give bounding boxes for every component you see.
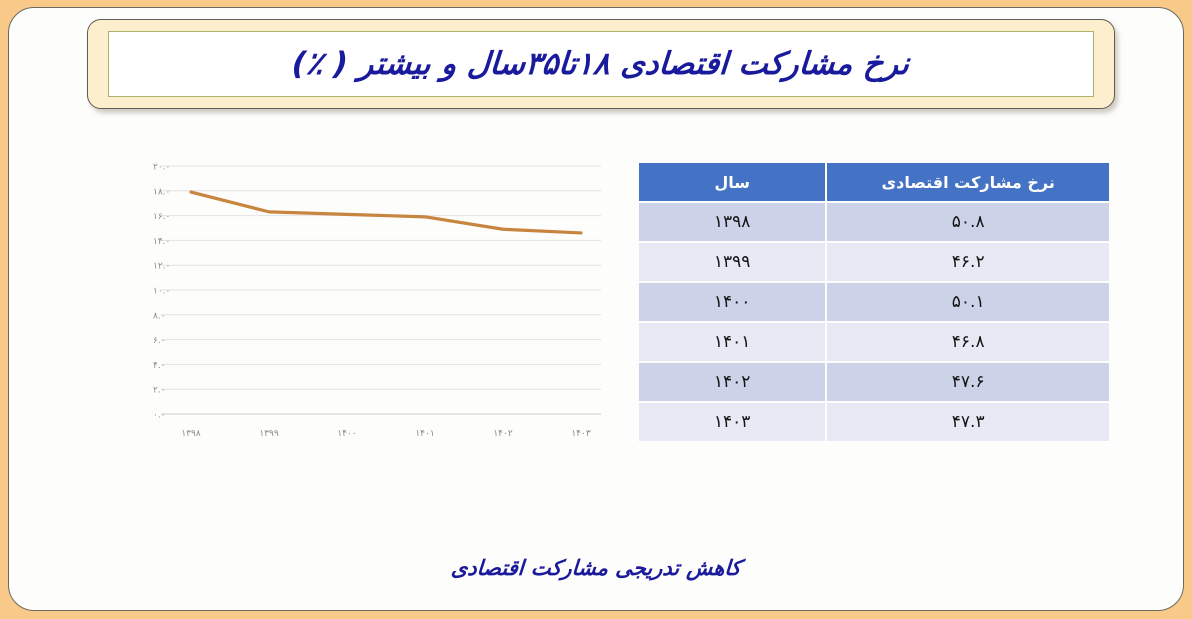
y-axis-tick-label: ۰.۰ bbox=[153, 411, 166, 421]
chart-series-line bbox=[191, 192, 581, 233]
x-axis-tick-label: ۱۳۹۹ bbox=[259, 429, 279, 439]
cell-rate: ۴۷.۶ bbox=[827, 363, 1109, 401]
slide-card: نرخ مشارکت اقتصادی ۱۸تا۳۵سال و بیشتر ( ٪… bbox=[8, 7, 1184, 611]
cell-rate: ۴۶.۲ bbox=[827, 243, 1109, 281]
participation-rate-line-chart: ۰.۰۲.۰۴.۰۶.۰۸.۰۱۰.۰۱۲.۰۱۴.۰۱۶.۰۱۸.۰۲۰.۰ … bbox=[109, 156, 609, 456]
y-axis-tick-label: ۱۶.۰ bbox=[153, 212, 170, 222]
title-banner: نرخ مشارکت اقتصادی ۱۸تا۳۵سال و بیشتر ( ٪… bbox=[87, 19, 1115, 109]
data-table: نرخ مشارکت اقتصادی سال ۵۰.۸۱۳۹۸۴۶.۲۱۳۹۹۵… bbox=[637, 161, 1111, 443]
y-axis-tick-label: ۱۲.۰ bbox=[153, 262, 170, 272]
y-axis-tick-label: ۱۸.۰ bbox=[153, 187, 170, 197]
title-inner-frame: نرخ مشارکت اقتصادی ۱۸تا۳۵سال و بیشتر ( ٪… bbox=[108, 31, 1094, 97]
chart-gridlines bbox=[161, 166, 601, 414]
cell-year: ۱۴۰۱ bbox=[639, 323, 825, 361]
y-axis-tick-label: ۸.۰ bbox=[153, 311, 166, 321]
page-title: نرخ مشارکت اقتصادی ۱۸تا۳۵سال و بیشتر ( ٪… bbox=[291, 46, 911, 82]
table-row: ۴۷.۳۱۴۰۳ bbox=[639, 403, 1109, 441]
chart-x-axis-labels: ۱۳۹۸۱۳۹۹۱۴۰۰۱۴۰۱۱۴۰۲۱۴۰۳ bbox=[181, 429, 591, 439]
cell-rate: ۵۰.۸ bbox=[827, 203, 1109, 241]
x-axis-tick-label: ۱۴۰۱ bbox=[415, 429, 434, 439]
table-body: ۵۰.۸۱۳۹۸۴۶.۲۱۳۹۹۵۰.۱۱۴۰۰۴۶.۸۱۴۰۱۴۷.۶۱۴۰۲… bbox=[639, 203, 1109, 441]
column-header-year: سال bbox=[639, 163, 825, 201]
column-header-rate: نرخ مشارکت اقتصادی bbox=[827, 163, 1109, 201]
y-axis-tick-label: ۴.۰ bbox=[153, 361, 166, 371]
cell-year: ۱۴۰۰ bbox=[639, 283, 825, 321]
chart-panel: ۰.۰۲.۰۴.۰۶.۰۸.۰۱۰.۰۱۲.۰۱۴.۰۱۶.۰۱۸.۰۲۰.۰ … bbox=[109, 156, 609, 456]
table-header-row: نرخ مشارکت اقتصادی سال bbox=[639, 163, 1109, 201]
cell-year: ۱۳۹۸ bbox=[639, 203, 825, 241]
table-row: ۴۶.۲۱۳۹۹ bbox=[639, 243, 1109, 281]
y-axis-tick-label: ۱۴.۰ bbox=[153, 237, 170, 247]
y-axis-tick-label: ۲۰.۰ bbox=[153, 163, 170, 173]
table-row: ۵۰.۸۱۳۹۸ bbox=[639, 203, 1109, 241]
x-axis-tick-label: ۱۴۰۰ bbox=[337, 429, 356, 439]
cell-year: ۱۳۹۹ bbox=[639, 243, 825, 281]
table-head: نرخ مشارکت اقتصادی سال bbox=[639, 163, 1109, 201]
cell-year: ۱۴۰۲ bbox=[639, 363, 825, 401]
y-axis-tick-label: ۶.۰ bbox=[153, 336, 166, 346]
cell-year: ۱۴۰۳ bbox=[639, 403, 825, 441]
cell-rate: ۵۰.۱ bbox=[827, 283, 1109, 321]
table-row: ۴۶.۸۱۴۰۱ bbox=[639, 323, 1109, 361]
x-axis-tick-label: ۱۴۰۳ bbox=[571, 429, 591, 439]
table-row: ۵۰.۱۱۴۰۰ bbox=[639, 283, 1109, 321]
table-row: ۴۷.۶۱۴۰۲ bbox=[639, 363, 1109, 401]
cell-rate: ۴۶.۸ bbox=[827, 323, 1109, 361]
y-axis-tick-label: ۲.۰ bbox=[153, 386, 166, 396]
cell-rate: ۴۷.۳ bbox=[827, 403, 1109, 441]
x-axis-tick-label: ۱۳۹۸ bbox=[181, 429, 201, 439]
y-axis-tick-label: ۱۰.۰ bbox=[153, 287, 170, 297]
chart-y-axis-labels: ۰.۰۲.۰۴.۰۶.۰۸.۰۱۰.۰۱۲.۰۱۴.۰۱۶.۰۱۸.۰۲۰.۰ bbox=[153, 163, 170, 421]
x-axis-tick-label: ۱۴۰۲ bbox=[493, 429, 513, 439]
slide-caption: کاهش تدریجی مشارکت اقتصادی bbox=[8, 556, 1184, 580]
